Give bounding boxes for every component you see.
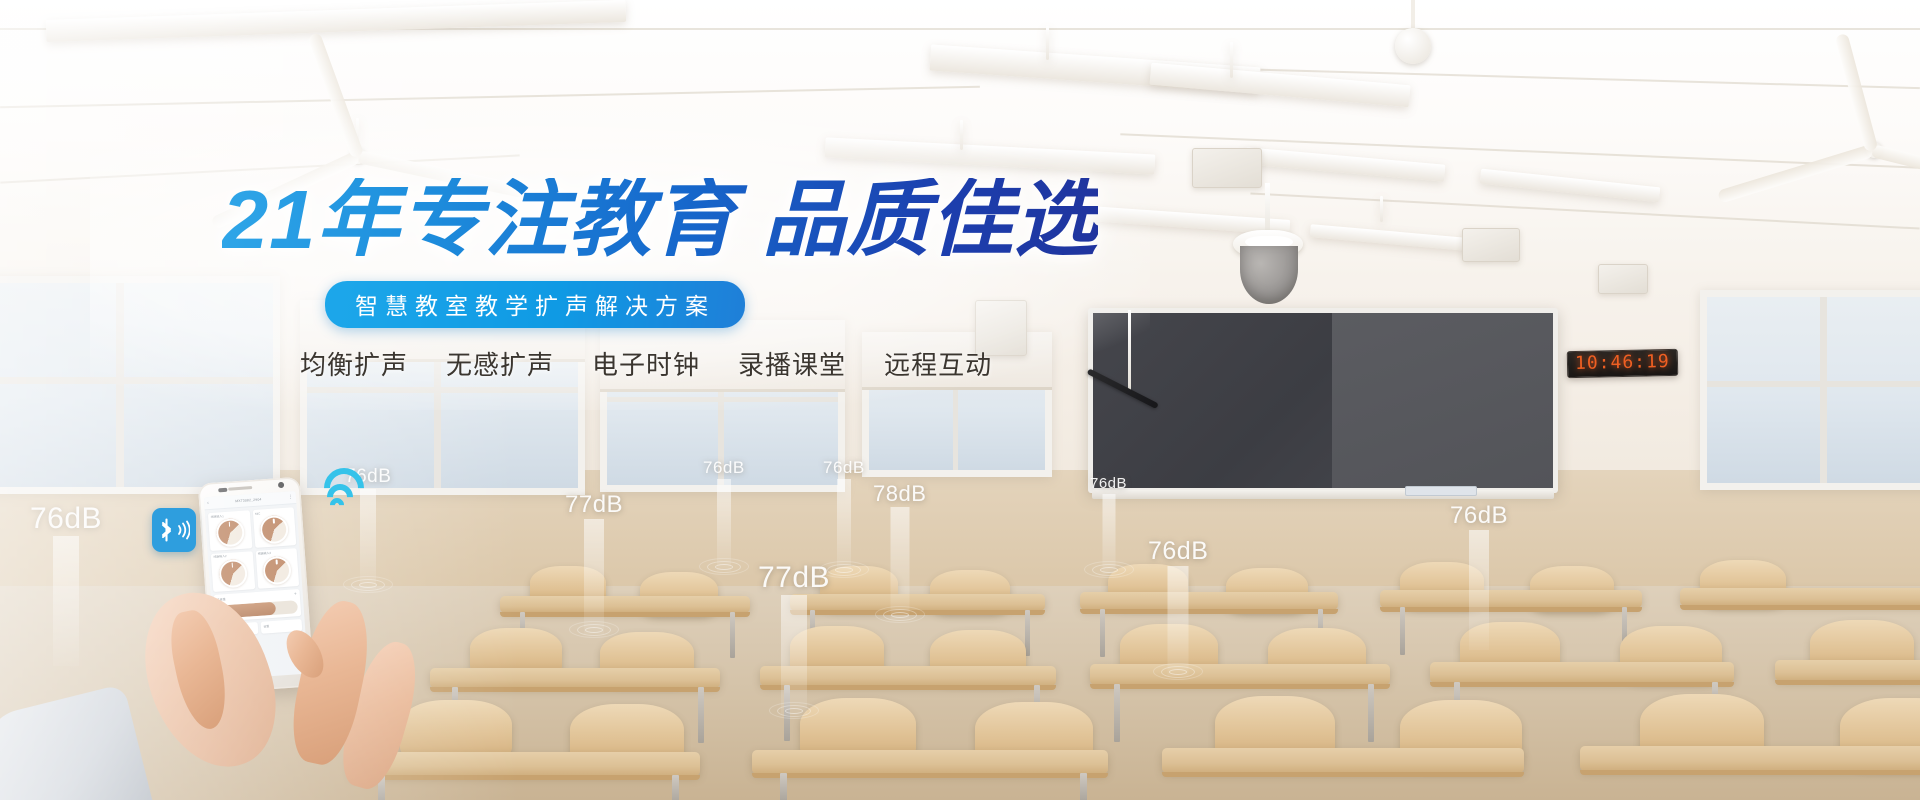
microphone-rod [1128,310,1131,390]
knob-card-title: 线路输入3 [258,551,295,556]
classroom-digital-clock: 10:46:19 [1567,349,1678,378]
db-marker: 76dB [703,458,745,478]
feature-list: 均衡扩声无感扩声电子时钟录播课堂远程互动 [300,345,992,382]
db-value-label: 77dB [758,561,830,595]
knob-card-title: 线路输入1 [211,513,248,518]
feature-item: 远程互动 [884,345,992,382]
db-marker: 76dB [823,458,865,478]
db-marker: 77dB [565,491,623,519]
knob-card[interactable]: 线路输入1 [208,510,252,551]
settings-label: 设置 [263,626,269,629]
db-value-label: 76dB [703,458,745,478]
subtitle-pill: 智慧教室教学扩声解决方案 [325,281,745,328]
ceiling-wallbox [1462,228,1520,262]
db-ripple-ring [769,702,819,719]
more-vertical-icon[interactable]: ⋮ [288,495,293,500]
db-ripple-ring [1153,663,1203,680]
db-value-label: 76dB [1090,475,1127,492]
knob-row-1: 线路输入1 MIC [208,507,296,551]
speaker-rod [1265,183,1270,235]
bluetooth-waves-icon [177,520,190,540]
db-ripple-ring [1084,561,1134,578]
db-beam [1168,566,1189,676]
ceiling-wallbox [1192,148,1262,188]
db-value-label: 77dB [565,491,623,519]
feature-item: 电子时钟 [592,345,700,382]
volume-knob[interactable] [218,559,248,589]
db-beam [360,489,376,589]
light-rod [1230,42,1233,78]
headline-part-2: 品质佳选 [762,173,1098,266]
light-rod [960,120,963,150]
db-marker: 77dB [758,561,830,595]
phone-front-camera [278,482,284,488]
volume-knob[interactable] [262,556,292,586]
knob-card[interactable]: 线路输入3 [255,548,299,589]
window-left-1 [0,276,280,494]
feature-item: 录播课堂 [738,345,846,382]
phone-earpiece-grill [218,487,227,492]
db-marker: 76dB [1450,502,1508,530]
db-ripple-ring [343,576,393,593]
smart-blackboard-icon [1088,308,1558,493]
db-beam [53,536,79,666]
db-marker: 76dB [1148,537,1208,566]
classroom-audio-banner: 76dB76dB77dB76dB76dB78dB76dB77dB76dB76dB… [0,0,1920,800]
db-value-label: 78dB [873,481,926,507]
chevron-left-icon[interactable]: ‹ [207,501,209,506]
db-ripple-ring [875,606,925,623]
light-rod [1046,26,1049,60]
db-beam [890,507,909,619]
db-marker: 76dB [1090,475,1127,492]
db-ripple-ring [569,621,619,638]
db-value-label: 76dB [30,502,102,536]
volume-knob[interactable] [215,518,245,548]
dome-rod [1411,0,1415,30]
light-rod [1380,196,1383,222]
db-beam [584,519,604,634]
phone-speaker [228,486,252,491]
db-value-label: 76dB [1148,537,1208,566]
page-title: 21年专注教育品质佳选 [222,178,1098,261]
blackboard-tray [1092,490,1554,499]
db-beam [1469,530,1489,650]
knob-row-2: 线路输入2 线路输入3 [211,548,299,592]
ceiling-dome-icon [1395,28,1431,64]
app-title: MX73082_2904 [211,496,286,505]
feature-item: 均衡扩声 [300,345,408,382]
volume-knob[interactable] [260,515,290,545]
db-beam [837,479,851,574]
window-far-right [1700,290,1920,490]
clock-time: 10:46:19 [1575,353,1670,373]
bluetooth-icon [152,508,196,552]
db-value-label: 76dB [1450,502,1508,530]
knob-card-title: MIC [255,510,292,515]
db-beam [781,595,807,715]
knob-card[interactable]: 线路输入2 [211,551,255,592]
headline-part-1: 21年专注教育 [222,173,736,266]
knob-card-title: 线路输入2 [213,554,250,559]
blackboard-control-panel[interactable] [1405,486,1477,496]
knob-card[interactable]: MIC [252,507,296,548]
blackboard-screen [1332,313,1553,488]
db-value-label: 76dB [823,458,865,478]
feature-item: 无感扩声 [446,345,554,382]
db-marker: 76dB [30,502,102,536]
plus-icon[interactable]: + [294,592,297,597]
db-ripple-ring [699,558,749,575]
ceiling-wallbox [1598,264,1648,294]
db-marker: 78dB [873,481,926,507]
